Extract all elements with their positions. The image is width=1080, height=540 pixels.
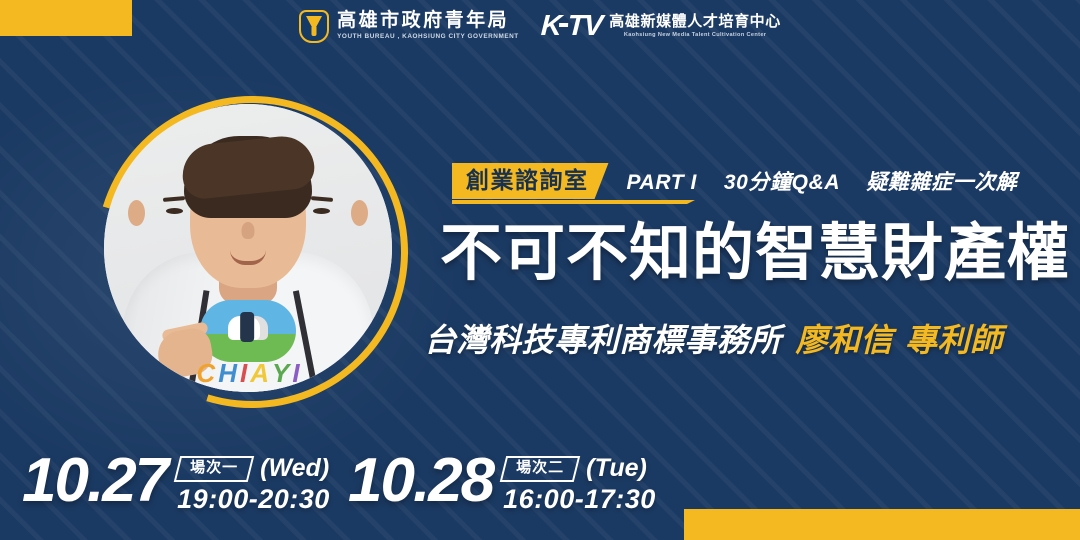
ktv-center-name-zh: 高雄新媒體人才培育中心 — [609, 14, 781, 30]
header-logo-bar: 高雄市政府青年局 YOUTH BUREAU , KAOHSIUNG CITY G… — [0, 0, 1080, 52]
speaker-photo: CHIAYI — [96, 96, 408, 408]
kicker-subtitle: PART I 30分鐘Q&A 疑難雜症一次解 — [627, 166, 1018, 196]
session-weekday: (Tue) — [586, 456, 647, 481]
speaker-organization: 台灣科技專利商標事務所 — [424, 322, 782, 358]
youth-bureau-name-en: YOUTH BUREAU , KAOHSIUNG CITY GOVERNMENT — [337, 33, 519, 41]
session-time: 19:00-20:30 — [177, 485, 330, 515]
speaker-name: 廖和信 — [796, 322, 894, 358]
session-time: 16:00-17:30 — [503, 485, 656, 515]
kicker-line: 創業諮詢室 PART I 30分鐘Q&A 疑難雜症一次解 — [452, 162, 1017, 200]
speaker-line: 台灣科技專利商標事務所廖和信專利師 — [424, 322, 1064, 359]
session-number-badge: 場次二 — [500, 456, 580, 482]
session-date: 10.28 — [348, 452, 493, 511]
kicker-part: PART I — [627, 171, 698, 194]
session-item: 10.27 場次一 (Wed) 19:00-20:30 — [22, 452, 330, 514]
youth-bureau-shield-icon — [299, 10, 329, 43]
ktv-wordmark-icon: KTV — [540, 12, 602, 41]
shirt-letters: CHIAYI — [196, 360, 299, 386]
kicker-underline — [452, 200, 695, 204]
kicker-badge: 創業諮詢室 — [452, 163, 609, 199]
page-title: 不可不知的智慧財產權 — [440, 222, 1060, 286]
ktv-center-name-en: Kaohsiung New Media Talent Cultivation C… — [609, 32, 781, 39]
session-date: 10.27 — [22, 452, 167, 511]
corner-accent-bottom-right — [684, 509, 1080, 540]
speaker-role: 專利師 — [905, 322, 1003, 358]
session-item: 10.28 場次二 (Tue) 16:00-17:30 — [348, 452, 656, 514]
session-number-badge: 場次一 — [174, 456, 254, 482]
event-poster: 高雄市政府青年局 YOUTH BUREAU , KAOHSIUNG CITY G… — [0, 0, 1080, 540]
kicker-tagline: 疑難雜症一次解 — [866, 171, 1017, 194]
logo-youth-bureau: 高雄市政府青年局 YOUTH BUREAU , KAOHSIUNG CITY G… — [299, 10, 519, 43]
youth-bureau-name-zh: 高雄市政府青年局 — [337, 11, 519, 31]
session-weekday: (Wed) — [260, 456, 329, 481]
kicker-duration: 30分鐘Q&A — [724, 171, 839, 194]
logo-ktv-center: KTV 高雄新媒體人才培育中心 Kaohsiung New Media Tale… — [541, 12, 781, 41]
speaker-portrait-image: CHIAYI — [104, 104, 392, 392]
